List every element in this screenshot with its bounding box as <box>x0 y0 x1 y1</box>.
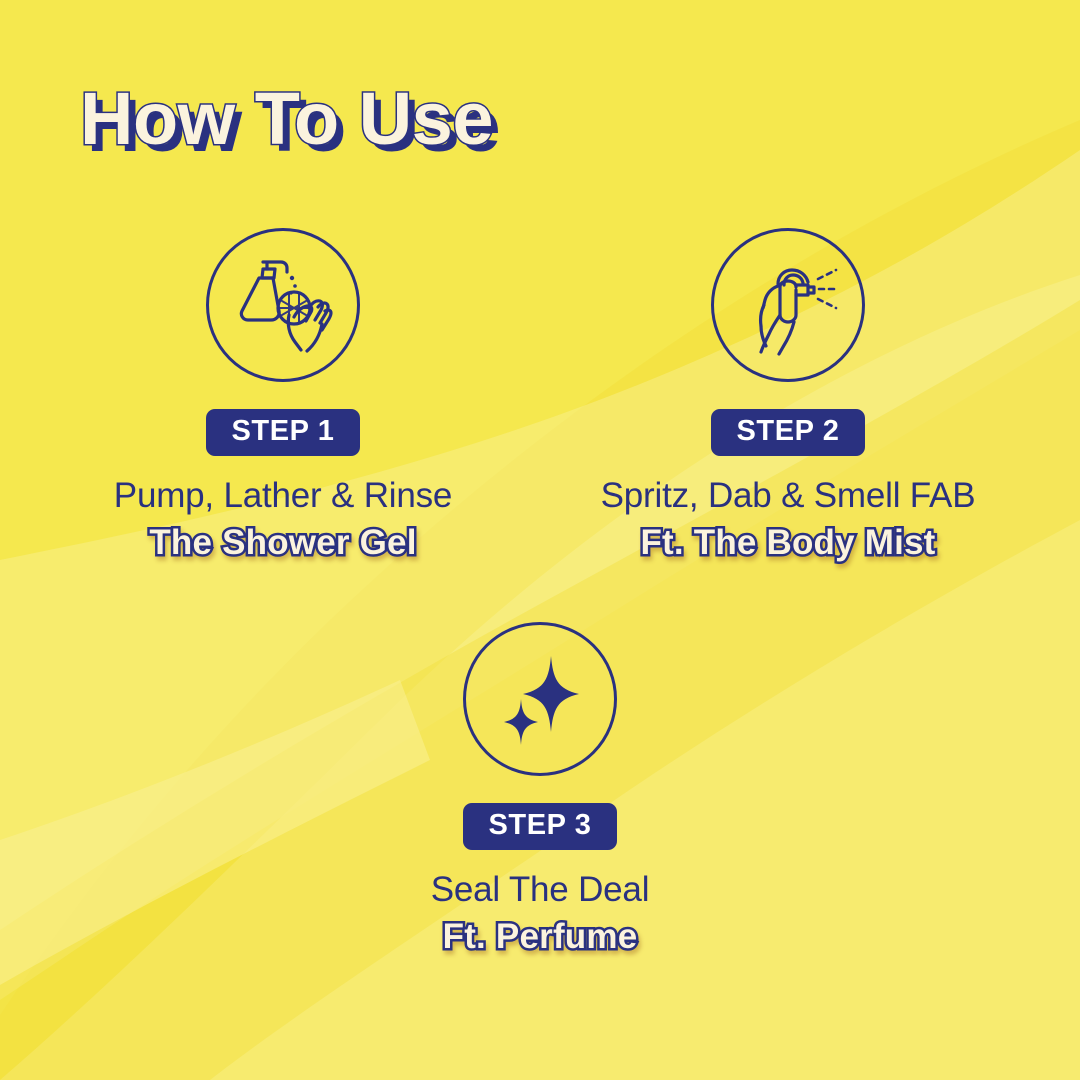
step-badge: STEP 2 <box>711 409 864 456</box>
step-card-2: STEP 2 Spritz, Dab & Smell FAB Ft. The B… <box>548 228 1028 562</box>
sparkle-stars-icon <box>463 622 617 776</box>
step-description: Pump, Lather & Rinse <box>43 478 523 515</box>
page-title: How To Use <box>80 78 493 161</box>
pump-bottle-lather-hand-icon <box>206 228 360 382</box>
step-badge: STEP 1 <box>206 409 359 456</box>
step-product: The Shower Gel <box>43 524 523 563</box>
step-description: Seal The Deal <box>300 872 780 909</box>
hand-spray-bottle-icon <box>711 228 865 382</box>
step-description: Spritz, Dab & Smell FAB <box>548 478 1028 515</box>
how-to-use-infographic: How To Use <box>0 0 1080 1080</box>
step-card-1: STEP 1 Pump, Lather & Rinse The Shower G… <box>43 228 523 562</box>
step-card-3: STEP 3 Seal The Deal Ft. Perfume <box>300 622 780 956</box>
step-product: Ft. The Body Mist <box>548 524 1028 563</box>
step-product: Ft. Perfume <box>300 918 780 957</box>
step-badge: STEP 3 <box>463 803 616 850</box>
